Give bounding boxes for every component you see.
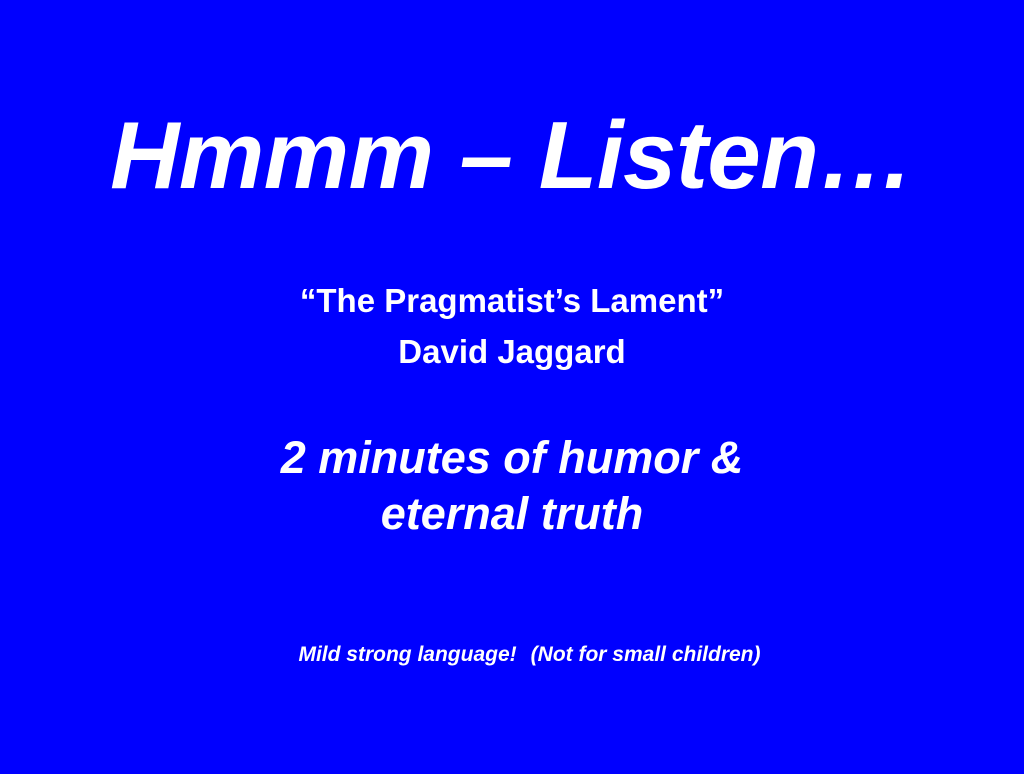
title-slide: Hmmm – Listen… “The Pragmatist’s Lament”… [0,0,1024,774]
content-advisory: Mild strong language!(Not for small chil… [0,617,1024,693]
advisory-note: (Not for small children) [531,643,761,666]
work-title: “The Pragmatist’s Lament” [0,275,1024,326]
tagline-line-1: 2 minutes of humor & [0,430,1024,486]
advisory-block: Mild strong language!(Not for small chil… [0,617,1024,693]
slide-title: Hmmm – Listen… [0,108,1024,204]
tagline-line-2: eternal truth [0,486,1024,542]
advisory-warning: Mild strong language! [298,643,516,666]
author-name: David Jaggard [0,326,1024,377]
tagline-block: 2 minutes of humor & eternal truth [0,430,1024,543]
subtitle-block: “The Pragmatist’s Lament” David Jaggard [0,275,1024,377]
title-block: Hmmm – Listen… [0,108,1024,204]
